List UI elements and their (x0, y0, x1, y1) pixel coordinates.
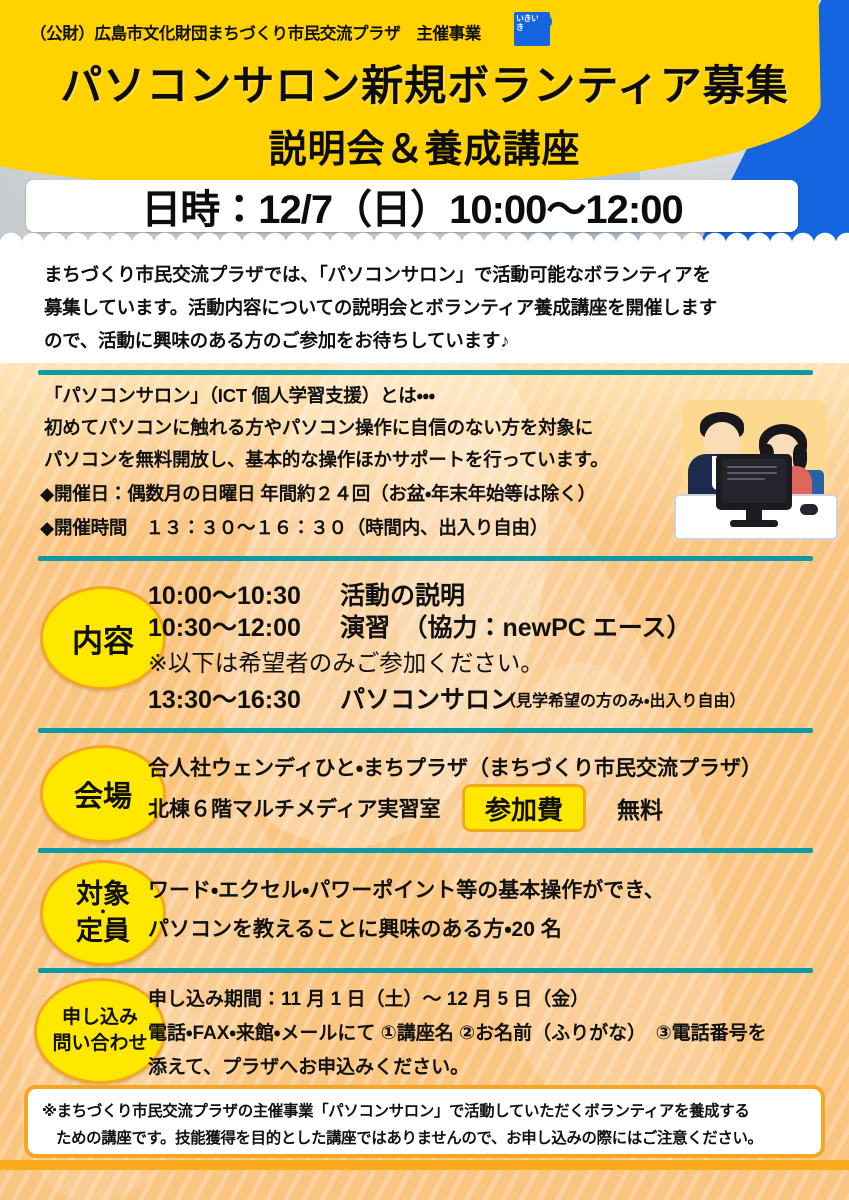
about-line-2: 初めてパソコンに触れる方やパソコン操作に自信のない方を対象に (44, 412, 704, 444)
section-label-apply-line1: 申し込み (62, 1005, 138, 1031)
content-row-2-desc: 演習 （協力：newPC エース） (340, 608, 692, 644)
rule-above-venue (38, 728, 813, 733)
about-line-3: パソコンを無料開放し、基本的な操作ほかサポートを行っています。 (44, 444, 714, 476)
content-row-1-desc: 活動の説明 (340, 576, 465, 612)
rule-above-target (38, 848, 813, 853)
date-time-banner: 日時：12/7（日）10:00〜12:00 (26, 180, 798, 232)
poster: （公財）広島市文化財団まちづくり市民交流プラザ 主催事業 いきいき パソコンサロ… (0, 0, 849, 1200)
target-line-1: ワード・エクセル・パワーポイント等の基本操作ができ、 (148, 874, 665, 904)
section-label-venue-text: 会場 (74, 773, 132, 815)
intro-line-3: ので、活動に興味のある方のご参加をお待ちしています♪ (44, 324, 814, 357)
about-line-4: ◆開催日：偶数月の日曜日 年間約２４回（お盆・年末年始等は除く） (40, 478, 730, 510)
logo-p-bowl (537, 14, 552, 29)
bottom-orange-band (0, 1160, 849, 1170)
content-row-1-time: 10:00〜10:30 (148, 576, 301, 612)
apply-line-1: 申し込み期間：11 月 1 日（土）〜 12 月 5 日（金） (148, 984, 589, 1011)
content-row-4-desc: パソコンサロン (340, 680, 515, 716)
monitor-base (730, 520, 778, 527)
intro-line-1: まちづくり市民交流プラザでは、「パソコンサロン」で活動可能なボランティアを (44, 258, 814, 291)
section-label-content-text: 内容 (72, 616, 134, 661)
intro-paragraph: まちづくり市民交流プラザでは、「パソコンサロン」で活動可能なボランティアを 募集… (44, 258, 814, 357)
fee-badge: 参加費 (462, 784, 586, 832)
screen-line-1 (727, 466, 777, 468)
fee-value: 無料 (617, 791, 663, 825)
apply-line-2: 電話・FAX・来館・メールにて ①講座名 ②お名前（ふりがな） ③電話番号を (148, 1018, 767, 1045)
mouse (800, 504, 818, 515)
screen-line-2 (727, 472, 777, 474)
section-label-apply-line2: 問い合わせ (52, 1031, 147, 1057)
content-row-4-note: （見学希望の方のみ・出入り自由） (500, 687, 745, 711)
header-banner: （公財）広島市文化財団まちづくり市民交流プラザ 主催事業 いきいき パソコンサロ… (0, 0, 849, 248)
ikiiki-plaza-logo: いきいき (512, 10, 556, 52)
apply-line-3: 添えて、プラザへお申込みください。 (148, 1052, 469, 1079)
footer-note-line-2: ための講座です。技能獲得を目的とした講座ではありませんので、お申し込みの際にはご… (42, 1125, 807, 1152)
content-row-3-desc: ※以下は希望者のみご参加ください。 (148, 644, 544, 678)
fee-label: 参加費 (485, 790, 563, 827)
section-label-apply: 申し込み 問い合わせ (34, 978, 166, 1084)
section-label-target-line2: 定員 (76, 918, 130, 945)
about-line-5: ◆開催時間 １３：３０〜１６：３０（時間内、出入り自由） (40, 512, 730, 544)
rule-above-apply (38, 968, 813, 973)
organizer-line: （公財）広島市文化財団まちづくり市民交流プラザ 主催事業 (30, 20, 550, 44)
footer-note-box: ※まちづくり市民交流プラザの主催事業「パソコンサロン」で活動していただくボランテ… (24, 1085, 825, 1158)
target-line-2: パソコンを教えることに興味のある方・20 名 (148, 913, 562, 943)
rule-above-content (38, 556, 813, 561)
venue-line-1: 合人社ウェンディひと・まちプラザ（まちづくり市民交流プラザ） (148, 752, 762, 782)
about-line-1: 「パソコンサロン」（ICT 個人学習支援）とは・・・ (44, 380, 684, 412)
content-row-4-time: 13:30〜16:30 (148, 680, 301, 716)
content-row-2-time: 10:30〜12:00 (148, 608, 301, 644)
screen-line-3 (727, 478, 765, 480)
poster-title-line1: パソコンサロン新規ボランティア募集 (0, 52, 849, 113)
poster-title-line2: 説明会＆養成講座 (0, 118, 849, 173)
footer-note-line-1: ※まちづくり市民交流プラザの主催事業「パソコンサロン」で活動していただくボランテ… (42, 1098, 807, 1125)
date-time-text: 日時：12/7（日）10:00〜12:00 (141, 177, 682, 235)
venue-line-2: 北棟６階マルチメディア実習室 (148, 793, 441, 823)
rule-above-about (38, 370, 813, 375)
scallop-fill (0, 243, 849, 255)
intro-line-2: 募集しています。活動内容についての説明会とボランティア養成講座を開催します (44, 291, 814, 324)
people-at-computer-illustration (672, 392, 837, 542)
